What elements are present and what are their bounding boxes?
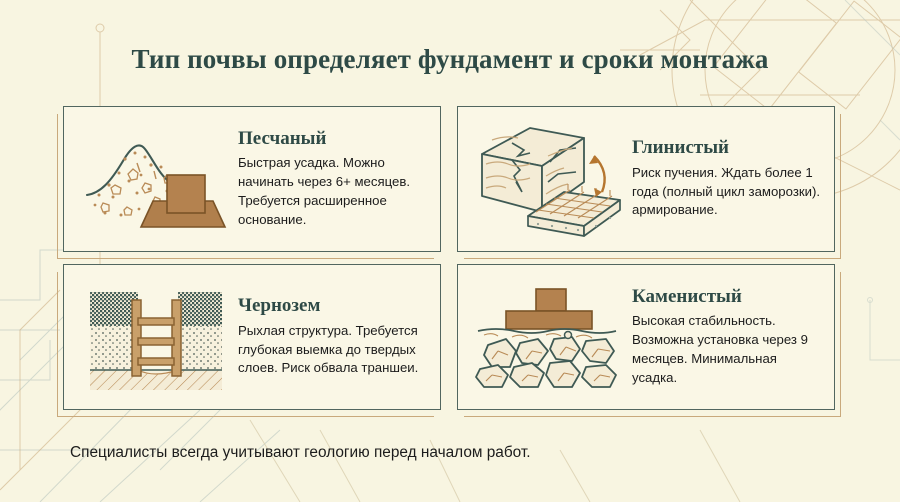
card-text-block: Чернозем Рыхлая структура. Требуется глу… bbox=[234, 296, 440, 378]
card-text-block: Глинистый Риск пучения. Ждать более 1 го… bbox=[628, 138, 834, 220]
card-title: Глинистый bbox=[632, 138, 824, 159]
soil-type-card-grid: Песчаный Быстрая усадка. Можно начинать … bbox=[63, 106, 835, 410]
cracked-clay-block-rebar-slab-icon bbox=[468, 120, 628, 238]
card-description: Высокая стабильность. Возможна установка… bbox=[632, 312, 824, 387]
card-description: Быстрая усадка. Можно начинать через 6+ … bbox=[238, 154, 430, 229]
card-description: Риск пучения. Ждать более 1 года (полный… bbox=[632, 164, 824, 220]
card-text-block: Каменистый Высокая стабильность. Возможн… bbox=[628, 287, 834, 388]
sand-mound-foundation-icon bbox=[74, 120, 234, 238]
card-title: Чернозем bbox=[238, 296, 430, 317]
soil-card-rocky[interactable]: Каменистый Высокая стабильность. Возможн… bbox=[457, 264, 835, 410]
footer-note: Специалисты всегда учитывают геологию пе… bbox=[70, 444, 531, 462]
boulders-footing-icon bbox=[468, 278, 628, 396]
card-title: Каменистый bbox=[632, 287, 824, 308]
card-description: Рыхлая структура. Требуется глубокая вые… bbox=[238, 322, 430, 378]
card-text-block: Песчаный Быстрая усадка. Можно начинать … bbox=[234, 129, 440, 230]
soil-card-sandy[interactable]: Песчаный Быстрая усадка. Можно начинать … bbox=[63, 106, 441, 252]
soil-card-chernozem[interactable]: Чернозем Рыхлая структура. Требуется глу… bbox=[63, 264, 441, 410]
page-title: Тип почвы определяет фундамент и сроки м… bbox=[0, 44, 900, 75]
soil-card-clay[interactable]: Глинистый Риск пучения. Ждать более 1 го… bbox=[457, 106, 835, 252]
card-title: Песчаный bbox=[238, 129, 430, 150]
trench-ladder-soil-layers-icon bbox=[74, 278, 234, 396]
infographic-root: Тип почвы определяет фундамент и сроки м… bbox=[0, 0, 900, 502]
